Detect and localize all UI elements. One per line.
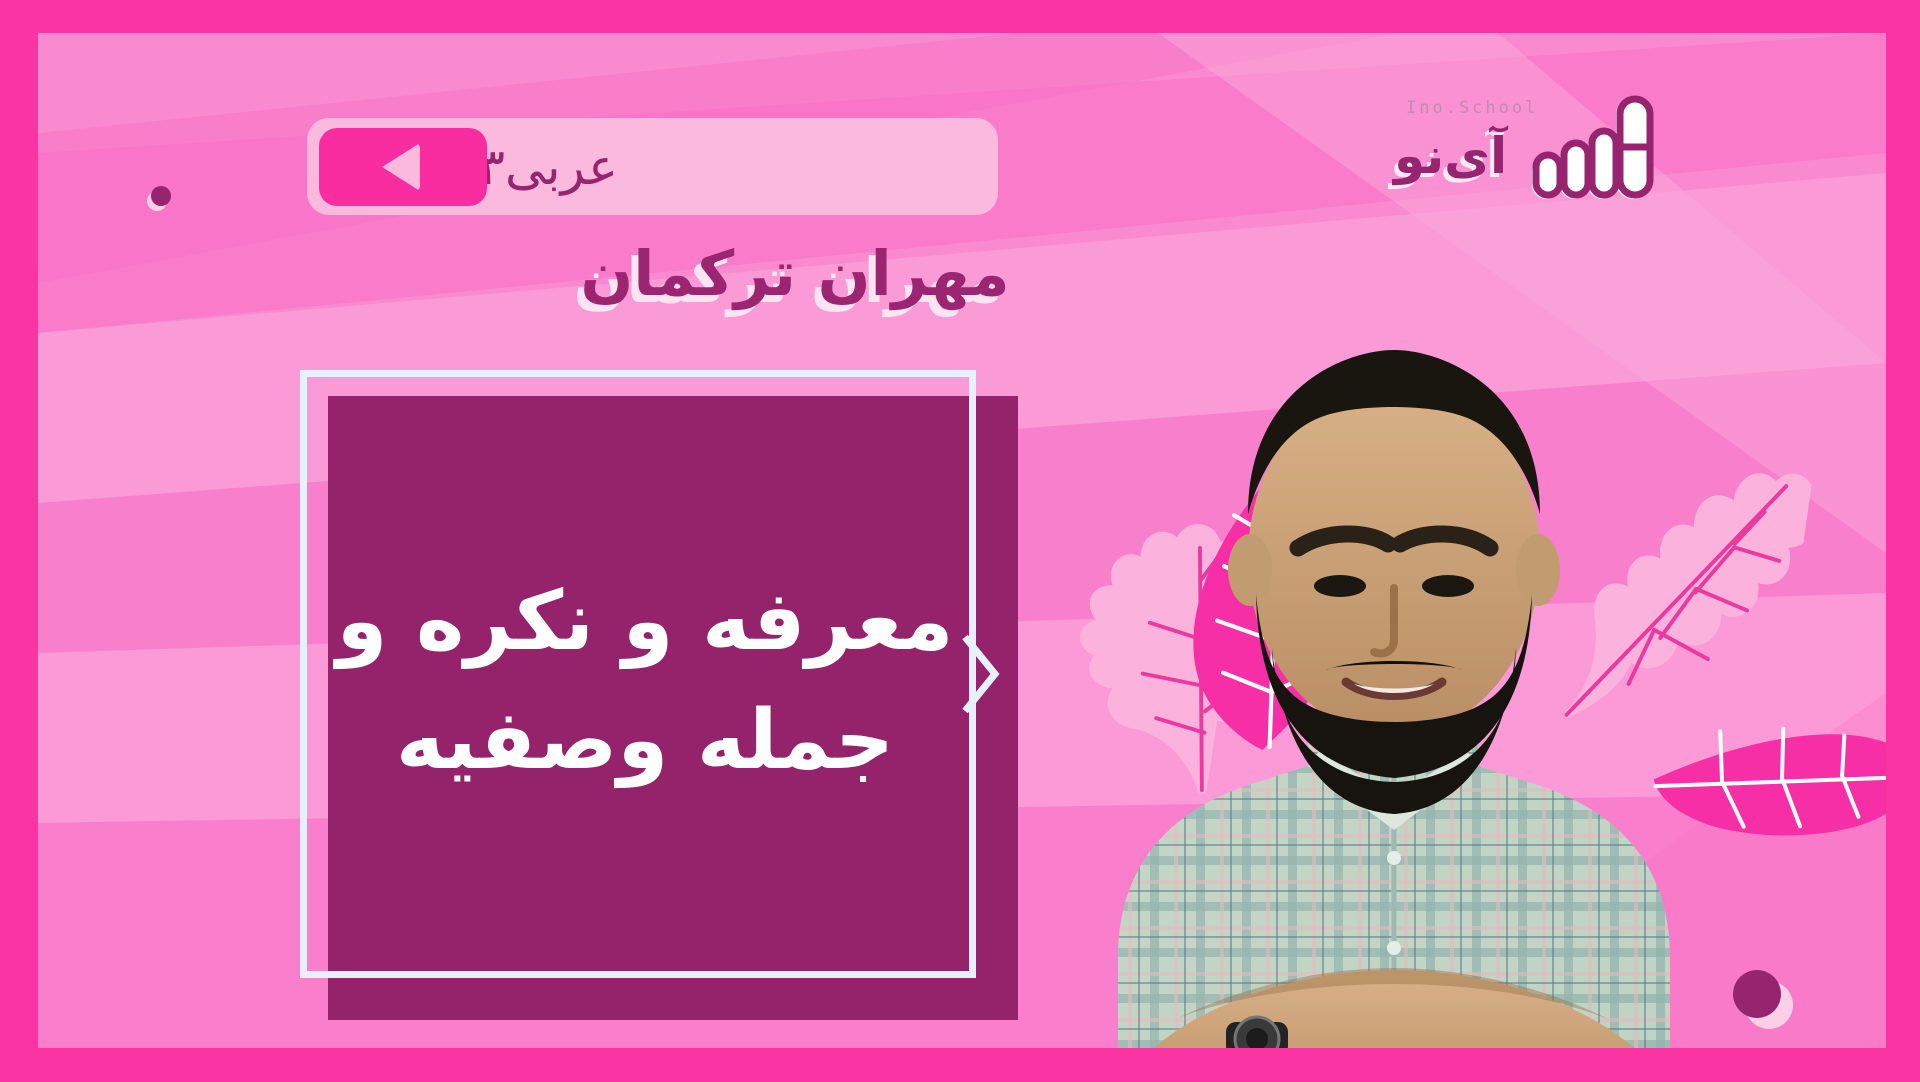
play-triangle-icon <box>382 143 420 191</box>
play-button[interactable] <box>319 128 487 206</box>
brand-logo-subtitle: Ino.School <box>1406 98 1538 118</box>
presenter-photo <box>1058 258 1728 1048</box>
course-title-line-2: جمله وصفیه <box>396 682 894 801</box>
thumbnail-canvas: عربی۳ انسانی مهران ترکمان معرفه و نکره و… <box>0 0 1920 1082</box>
course-title-text: معرفه و نکره و جمله وصفیه <box>300 370 990 994</box>
brand-logo-wordmark: آی‌نو <box>1394 127 1507 185</box>
brand-logo[interactable]: Ino.School آی‌نو <box>1388 95 1656 205</box>
decor-dot-small <box>151 186 171 206</box>
decor-dot-large <box>1733 970 1781 1018</box>
course-badge[interactable]: عربی۳ انسانی <box>307 118 998 215</box>
course-title-block: معرفه و نکره و جمله وصفیه <box>300 370 1020 1020</box>
course-title-line-1: معرفه و نکره و <box>337 563 954 682</box>
bar-chart-hand-logo-icon <box>1526 95 1656 200</box>
instructor-name: مهران ترکمان <box>560 238 1030 309</box>
inner-panel: عربی۳ انسانی مهران ترکمان معرفه و نکره و… <box>38 33 1886 1048</box>
